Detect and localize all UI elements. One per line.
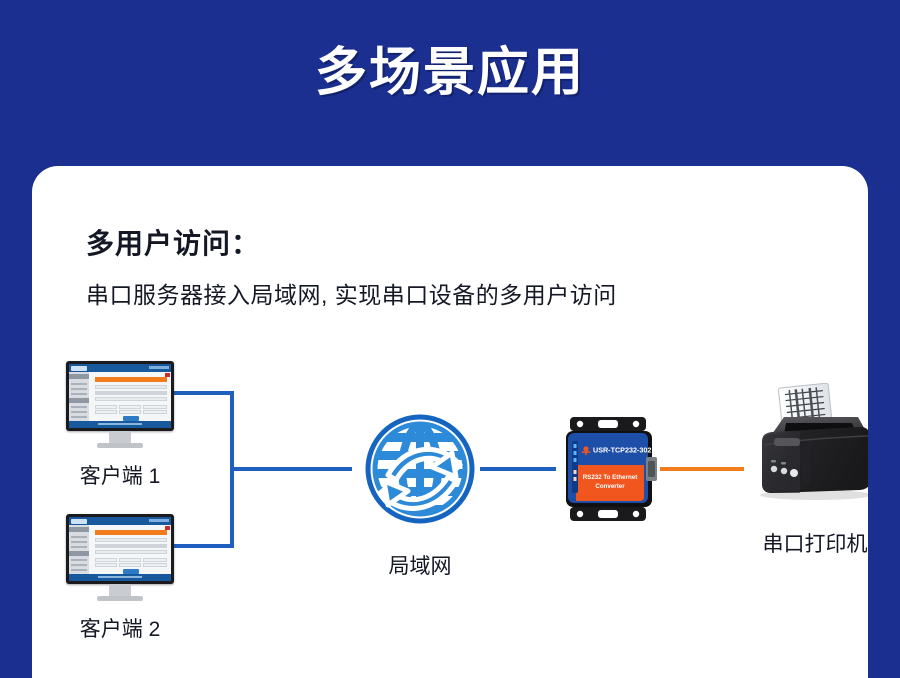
screen-sidebar-item bbox=[71, 541, 87, 543]
screen-sidebar-item bbox=[71, 393, 87, 395]
screen-form-cell bbox=[143, 563, 167, 567]
node-label-printer: 串口打印机 bbox=[740, 528, 868, 558]
screen-logo bbox=[71, 366, 87, 371]
node-label-client-1: 客户端 1 bbox=[66, 460, 174, 490]
screen-accent-bar bbox=[95, 377, 167, 382]
serial-printer-icon bbox=[740, 383, 868, 513]
node-label-client-2: 客户端 2 bbox=[66, 613, 174, 643]
desktop-monitor-icon bbox=[66, 514, 174, 584]
screen-form-row bbox=[95, 538, 167, 542]
screen-form-cell bbox=[95, 410, 117, 414]
monitor-stand-neck bbox=[109, 431, 131, 443]
desktop-monitor-icon bbox=[66, 361, 174, 431]
network-topology-diagram: 客户端 1 bbox=[32, 361, 868, 671]
server-subtitle-line2: Converter bbox=[595, 483, 625, 490]
screen-logo bbox=[71, 519, 87, 524]
screen-top-right-text bbox=[149, 519, 169, 522]
screen-sidebar bbox=[69, 525, 89, 574]
screen-form-cell bbox=[143, 558, 167, 562]
screen-accent-bar bbox=[95, 530, 167, 535]
node-serial-server[interactable]: USR-TCP232-302 RS232 To Ethernet Convert… bbox=[552, 413, 662, 530]
screen-form-row bbox=[95, 550, 167, 554]
screen-sidebar-item bbox=[71, 564, 87, 566]
screen-sidebar-item bbox=[71, 569, 87, 571]
screen-footer bbox=[69, 574, 171, 581]
screen-sidebar bbox=[69, 372, 89, 421]
screen-sidebar-group bbox=[69, 551, 89, 556]
serial-server-icon: USR-TCP232-302 RS232 To Ethernet Convert… bbox=[552, 413, 664, 525]
server-subtitle-line1: RS232 To Ethernet bbox=[583, 474, 638, 481]
screen-form-cell bbox=[95, 563, 117, 567]
screen-footer-text bbox=[98, 423, 142, 425]
screen-sidebar-item bbox=[71, 388, 87, 390]
monitor-stand-base bbox=[97, 596, 143, 601]
monitor-stand-base bbox=[97, 443, 143, 448]
screen-sidebar-group bbox=[69, 398, 89, 403]
node-client-2[interactable]: 客户端 2 bbox=[66, 514, 174, 643]
screen-sidebar-item bbox=[71, 416, 87, 418]
screen-sidebar-item bbox=[71, 536, 87, 538]
screen-sidebar-active bbox=[69, 374, 89, 379]
screen-sidebar-item bbox=[71, 406, 87, 408]
section-description: 串口服务器接入局域网, 实现串口设备的多用户访问 bbox=[86, 276, 617, 310]
screen-sidebar-item bbox=[71, 559, 87, 561]
screen-sidebar-item bbox=[71, 411, 87, 413]
node-serial-printer[interactable]: 串口打印机 bbox=[740, 383, 868, 558]
node-client-1[interactable]: 客户端 1 bbox=[66, 361, 174, 490]
screen-form-cell bbox=[119, 558, 141, 562]
globe-network-icon bbox=[360, 409, 480, 529]
screen-form-cell bbox=[95, 405, 117, 409]
page-banner: 多场景应用 bbox=[0, 0, 900, 166]
screen-footer bbox=[69, 421, 171, 428]
screen-sidebar-active bbox=[69, 527, 89, 532]
screen-form-cell bbox=[119, 405, 141, 409]
screen-form-cell bbox=[143, 410, 167, 414]
monitor-screen bbox=[69, 517, 171, 581]
content-card: 多用户访问： 串口服务器接入局域网, 实现串口设备的多用户访问 bbox=[32, 166, 868, 678]
screen-form-row bbox=[95, 397, 167, 401]
section-heading: 多用户访问： bbox=[86, 222, 260, 262]
screen-form-row bbox=[95, 391, 167, 395]
monitor-stand-neck bbox=[109, 584, 131, 596]
node-lan[interactable]: 局域网 bbox=[360, 409, 480, 580]
screen-sidebar-item bbox=[71, 383, 87, 385]
screen-form-cell bbox=[143, 405, 167, 409]
screen-sidebar-item bbox=[71, 546, 87, 548]
screen-form-row bbox=[95, 385, 167, 389]
server-model-text: USR-TCP232-302 bbox=[593, 446, 651, 455]
screen-top-right-text bbox=[149, 366, 169, 369]
screen-form-cell bbox=[95, 558, 117, 562]
screen-footer-text bbox=[98, 576, 142, 578]
page-title: 多场景应用 bbox=[0, 42, 900, 104]
screen-form-cell bbox=[119, 563, 141, 567]
monitor-screen bbox=[69, 364, 171, 428]
screen-form-row bbox=[95, 544, 167, 548]
node-label-lan: 局域网 bbox=[360, 550, 480, 580]
screen-form-cell bbox=[119, 410, 141, 414]
